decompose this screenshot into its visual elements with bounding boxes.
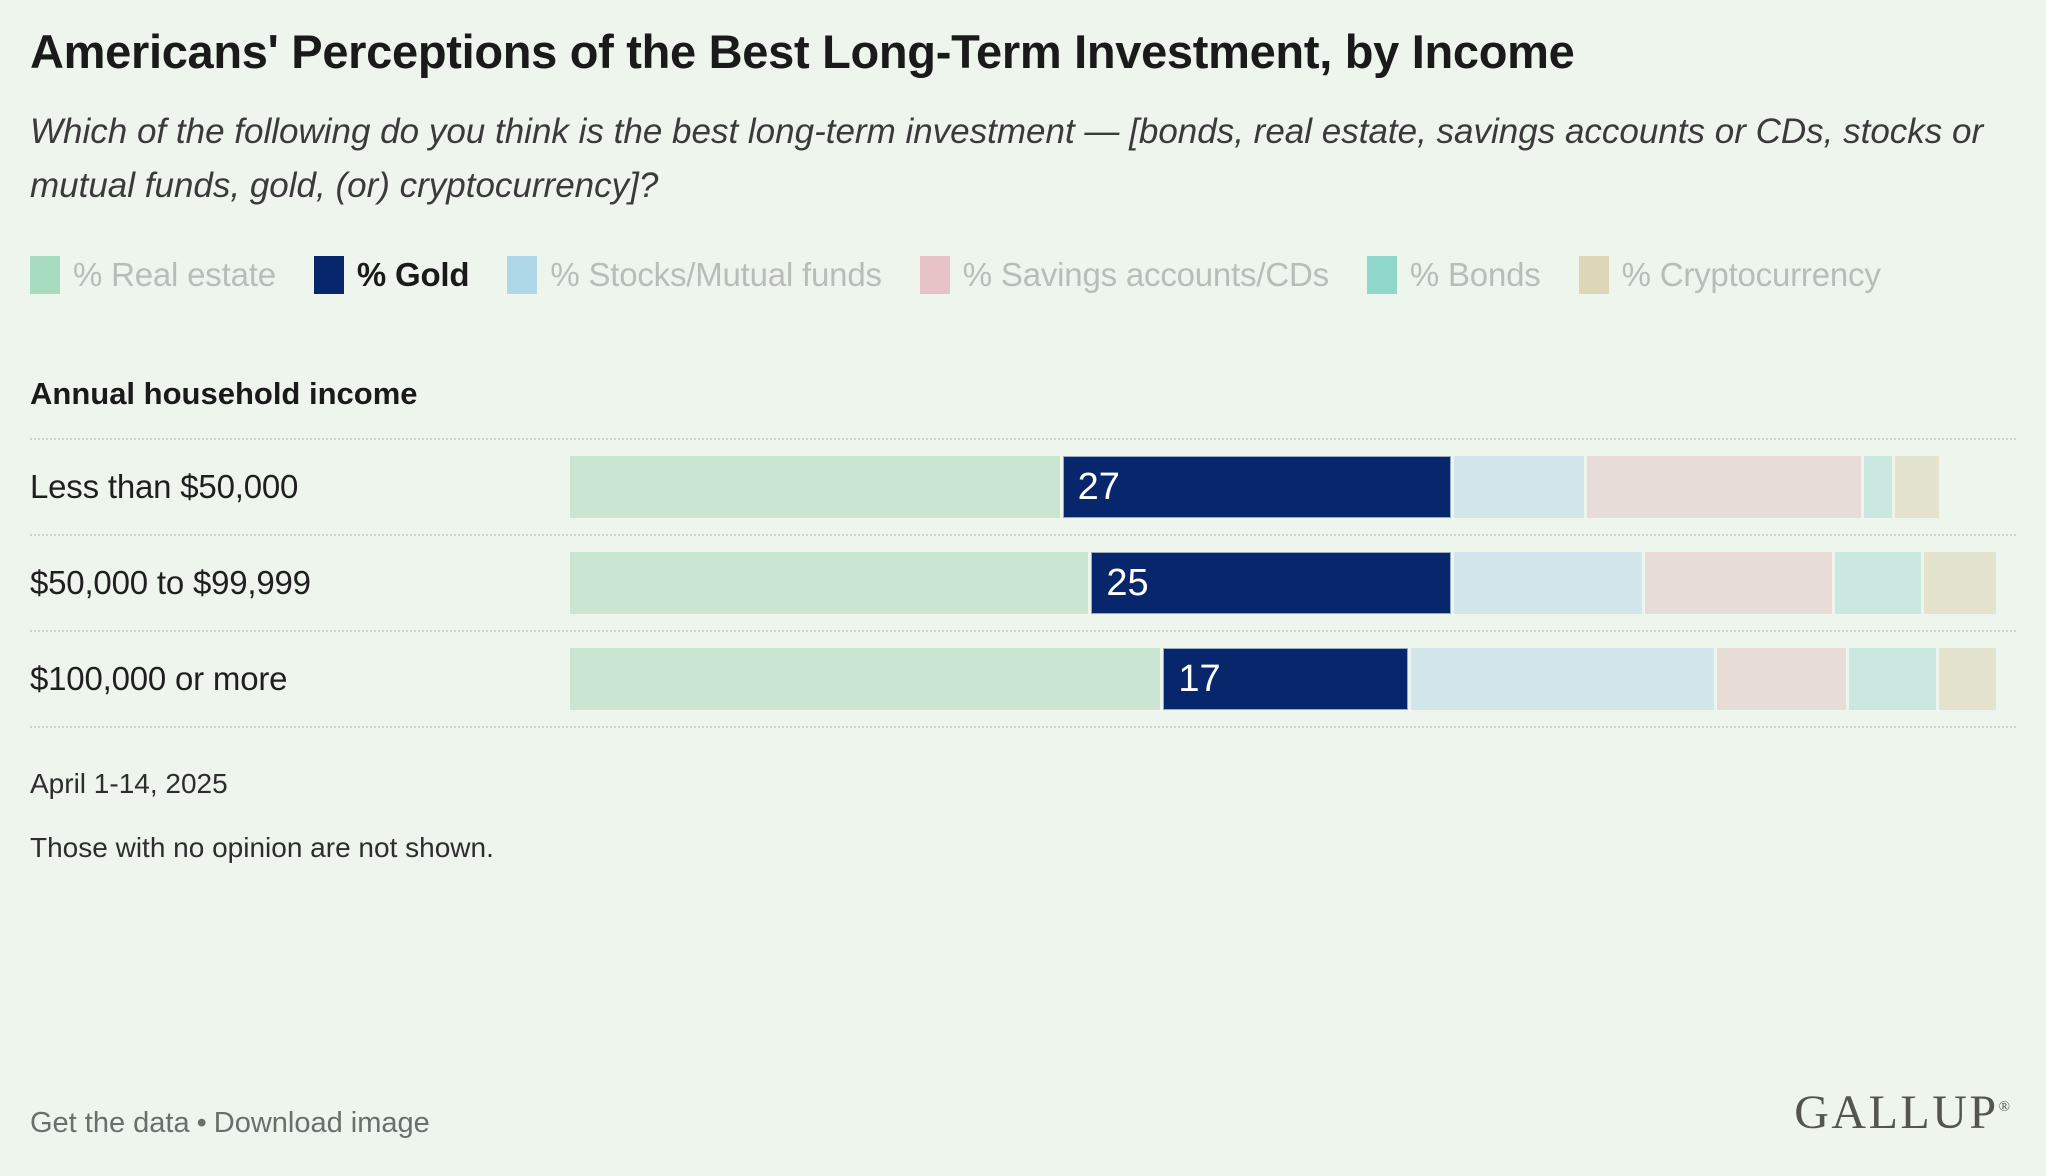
bar-track: 25 [570, 552, 2016, 614]
legend-item[interactable]: % Cryptocurrency [1579, 256, 1881, 294]
legend-swatch-icon [1367, 256, 1397, 294]
legend-item[interactable]: % Savings accounts/CDs [920, 256, 1329, 294]
legend-item[interactable]: % Real estate [30, 256, 276, 294]
bar-segment[interactable]: 25 [1091, 552, 1451, 614]
bar-row-label: $50,000 to $99,999 [30, 564, 570, 602]
gallup-chart-page: Americans' Perceptions of the Best Long-… [0, 0, 2046, 1176]
chart-subtitle: Which of the following do you think is t… [30, 105, 2016, 214]
legend-swatch-icon [1579, 256, 1609, 294]
legend-item-label: % Savings accounts/CDs [963, 256, 1329, 294]
bar-row-label: $100,000 or more [30, 660, 570, 698]
gallup-logo: GALLUP® [1794, 1085, 2016, 1140]
bar-track: 27 [570, 456, 2016, 518]
no-opinion-footnote: Those with no opinion are not shown. [30, 832, 2016, 864]
bar-segment[interactable]: 17 [1163, 648, 1408, 710]
download-image-link[interactable]: Download image [214, 1107, 430, 1139]
survey-date-footnote: April 1-14, 2025 [30, 768, 2016, 800]
bar-segment[interactable] [570, 456, 1060, 518]
bar-segment[interactable]: 27 [1063, 456, 1452, 518]
bar-segment[interactable] [1587, 456, 1861, 518]
bar-segment[interactable] [1835, 552, 1921, 614]
get-the-data-link[interactable]: Get the data [30, 1107, 190, 1139]
legend-item-label: % Real estate [73, 256, 276, 294]
gallup-wordmark: GALLUP [1794, 1086, 1998, 1139]
legend-item-label: % Stocks/Mutual funds [550, 256, 881, 294]
bar-segment-value: 27 [1064, 468, 1120, 506]
bar-row: $100,000 or more17 [30, 630, 2016, 728]
bar-segment[interactable] [1924, 552, 1996, 614]
bar-segment[interactable] [1939, 648, 1997, 710]
bar-segment[interactable] [1849, 648, 1935, 710]
page-footer: Get the data•Download image GALLUP® [30, 1085, 2016, 1140]
legend-item-label: % Cryptocurrency [1622, 256, 1881, 294]
bar-segment[interactable] [1645, 552, 1832, 614]
bar-segment[interactable] [570, 648, 1160, 710]
legend-swatch-icon [314, 256, 344, 294]
chart-legend: % Real estate% Gold% Stocks/Mutual funds… [30, 256, 2016, 306]
bar-segment[interactable] [1864, 456, 1893, 518]
bar-segment[interactable] [1454, 456, 1584, 518]
bar-segment[interactable] [1717, 648, 1847, 710]
legend-swatch-icon [507, 256, 537, 294]
legend-swatch-icon [920, 256, 950, 294]
bar-row: $50,000 to $99,99925 [30, 534, 2016, 630]
legend-item[interactable]: % Bonds [1367, 256, 1541, 294]
bar-segment[interactable] [570, 552, 1088, 614]
legend-item[interactable]: % Gold [314, 256, 469, 294]
legend-item-label: % Gold [357, 256, 469, 294]
bar-track: 17 [570, 648, 2016, 710]
legend-swatch-icon [30, 256, 60, 294]
bar-segment[interactable] [1411, 648, 1713, 710]
legend-item[interactable]: % Stocks/Mutual funds [507, 256, 881, 294]
page-title: Americans' Perceptions of the Best Long-… [30, 0, 2016, 79]
registered-trademark-icon: ® [1999, 1099, 2010, 1115]
footer-separator: • [197, 1107, 207, 1139]
footer-links: Get the data•Download image [30, 1107, 430, 1140]
bar-segment[interactable] [1454, 552, 1641, 614]
bar-row-label: Less than $50,000 [30, 468, 570, 506]
bar-segment-value: 25 [1092, 564, 1148, 602]
bar-row: Less than $50,00027 [30, 438, 2016, 534]
stacked-bar-chart: Less than $50,00027$50,000 to $99,99925$… [30, 438, 2016, 728]
bar-segment[interactable] [1895, 456, 1938, 518]
legend-item-label: % Bonds [1410, 256, 1541, 294]
bar-segment-value: 17 [1164, 660, 1220, 698]
group-heading: Annual household income [30, 376, 2016, 412]
